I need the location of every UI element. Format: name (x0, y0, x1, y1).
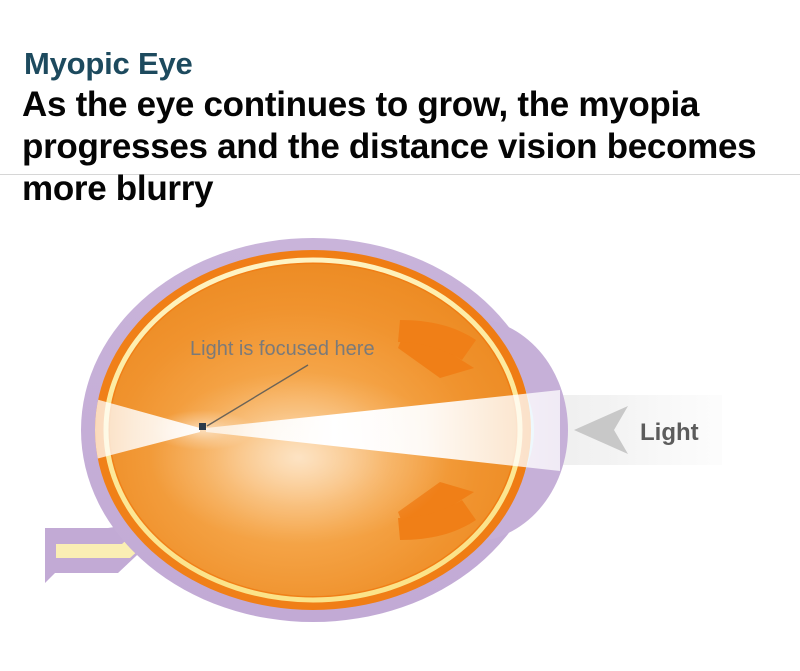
light-label: Light (640, 419, 699, 446)
header-block: Myopic Eye As the eye continues to grow,… (0, 0, 800, 230)
focus-label: Light is focused here (190, 338, 375, 360)
page-title: Myopic Eye (24, 48, 193, 79)
description-text: As the eye continues to grow, the myopia… (22, 84, 792, 210)
eye-diagram: Light is focused here Light (0, 228, 800, 671)
